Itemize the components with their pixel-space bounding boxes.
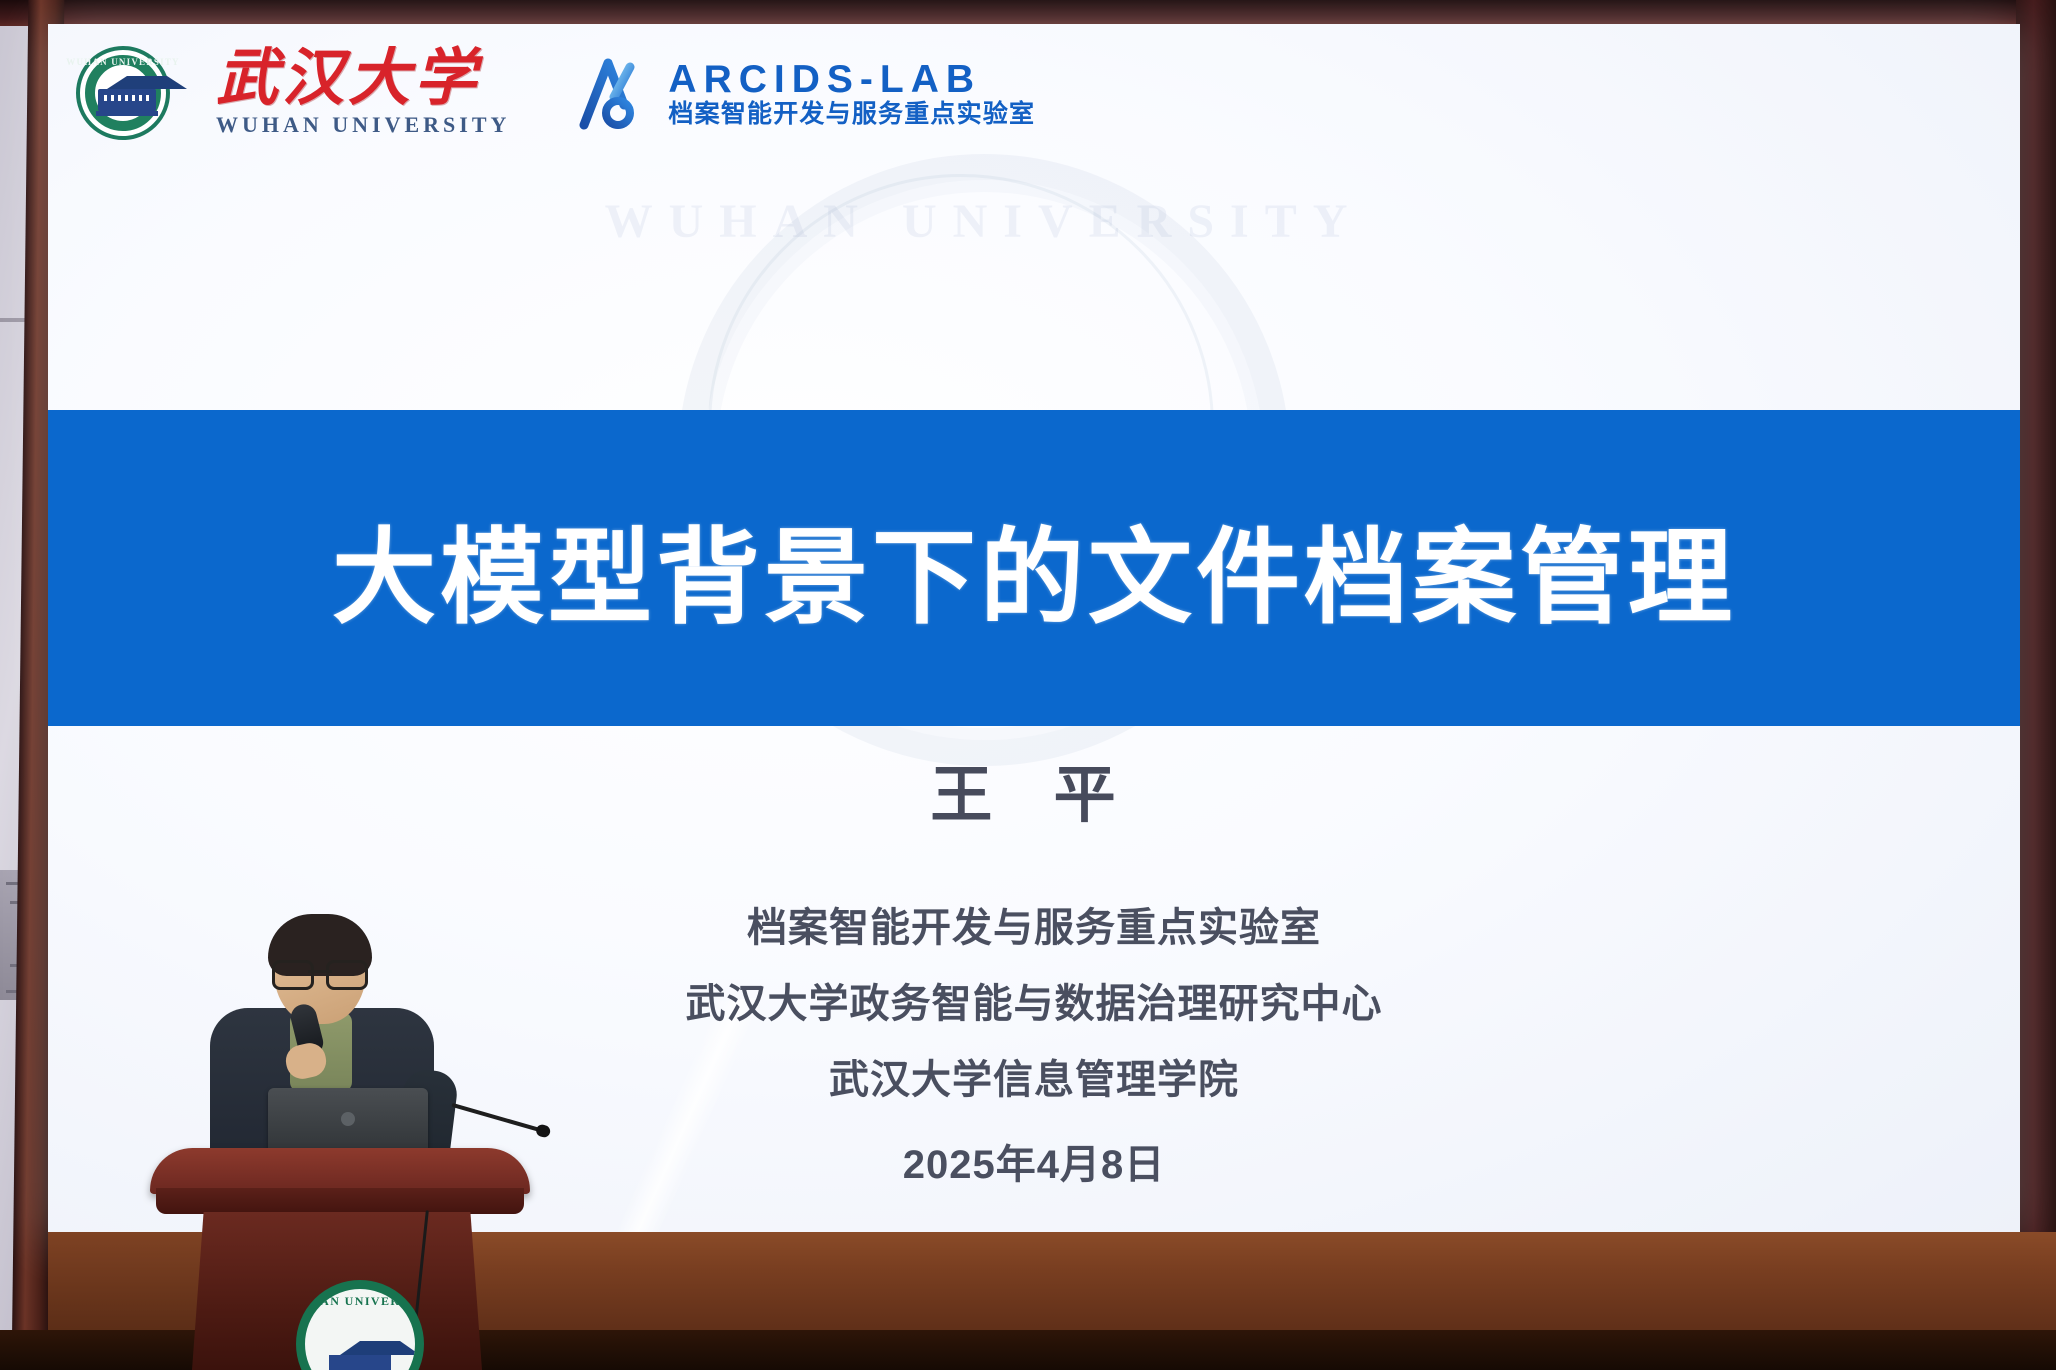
podium-lip (156, 1188, 524, 1214)
lab-name-en: ARCIDS-LAB (668, 60, 1035, 99)
screen-frame-right (2016, 0, 2056, 1370)
arcids-lambda-icon (574, 55, 650, 131)
seal-year: 1893 (115, 122, 130, 128)
slide-title-banner: 大模型背景下的文件档案管理 (48, 410, 2020, 726)
slide-logo-row: WUHAN UNIVERSITY 1893 武汉大学 WUHAN UNIVERS… (76, 46, 1035, 140)
gooseneck-microphone-icon (451, 1103, 544, 1133)
university-name-cn: 武汉大学 (216, 48, 510, 110)
screen-frame-top (0, 0, 2056, 26)
slide-title: 大模型背景下的文件档案管理 (48, 493, 2020, 644)
podium-university-seal-icon: WUHAN UNIVERSITY (296, 1280, 424, 1370)
lab-name-cn: 档案智能开发与服务重点实验室 (668, 102, 1035, 127)
podium-seal-text: WUHAN UNIVERSITY (296, 1294, 424, 1309)
wuhan-university-seal-icon: WUHAN UNIVERSITY 1893 (76, 46, 170, 140)
arcids-lab-logo: ARCIDS-LAB 档案智能开发与服务重点实验室 (574, 55, 1035, 131)
presenter-name: 王 平 (48, 744, 2020, 834)
eyeglasses-icon (272, 960, 368, 984)
wuhan-university-wordmark: 武汉大学 WUHAN UNIVERSITY (216, 48, 510, 138)
conference-photo-scene: WUHAN UNIVERSITY WUHAN UNIVERSITY 1893 武… (0, 0, 2056, 1370)
laptop-icon (268, 1088, 428, 1156)
university-name-en: WUHAN UNIVERSITY (216, 112, 510, 138)
seal-ring-text: WUHAN UNIVERSITY (66, 57, 179, 67)
podium-and-speaker: WUHAN UNIVERSITY (150, 920, 570, 1370)
